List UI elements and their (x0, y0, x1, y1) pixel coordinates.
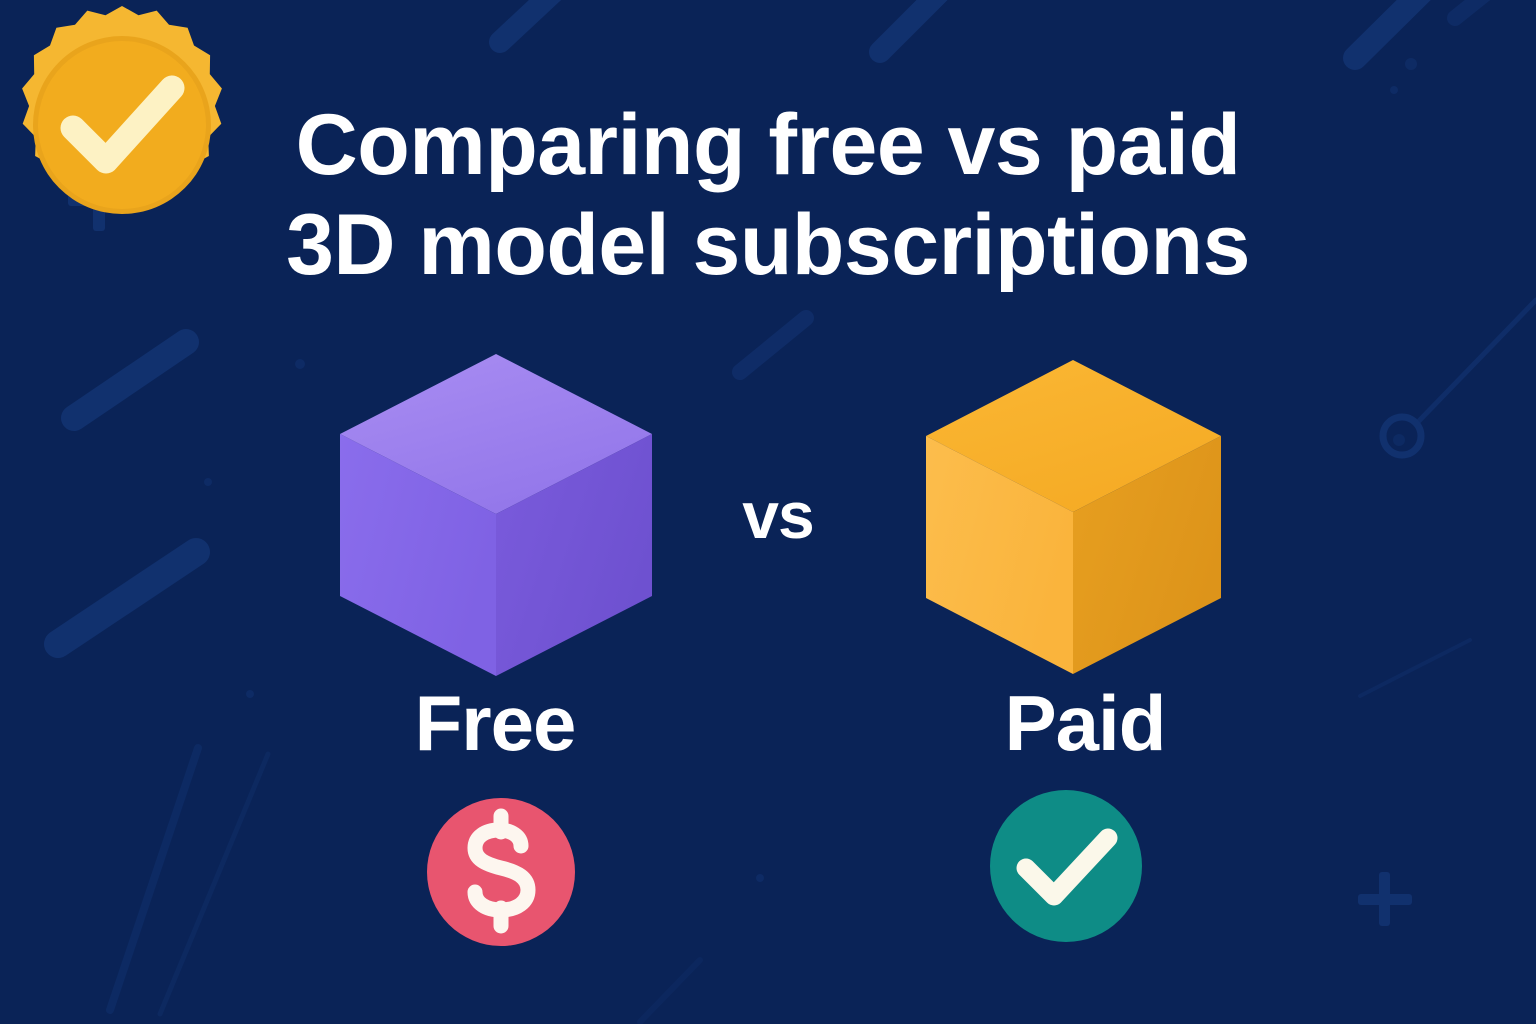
paid-cube-container (912, 352, 1238, 687)
paid-plan-label: Paid (930, 684, 1240, 762)
orange-cube-icon (912, 352, 1238, 682)
versus-label: vs (698, 482, 858, 548)
purple-cube-icon (330, 348, 670, 684)
comparison-stage: vs (0, 0, 1536, 1024)
free-plan-label: Free (340, 684, 650, 762)
free-cube-container (330, 348, 670, 689)
dollar-sign-icon (425, 796, 577, 948)
verified-seal-badge (0, 0, 1536, 255)
badge-background (990, 790, 1142, 942)
verified-seal-icon (0, 0, 244, 250)
check-mark-icon (988, 788, 1144, 944)
paid-check-badge (988, 788, 1144, 949)
comparison-graphic: Comparing free vs paid 3D model subscrip… (0, 0, 1536, 1024)
free-dollar-badge (425, 796, 577, 953)
